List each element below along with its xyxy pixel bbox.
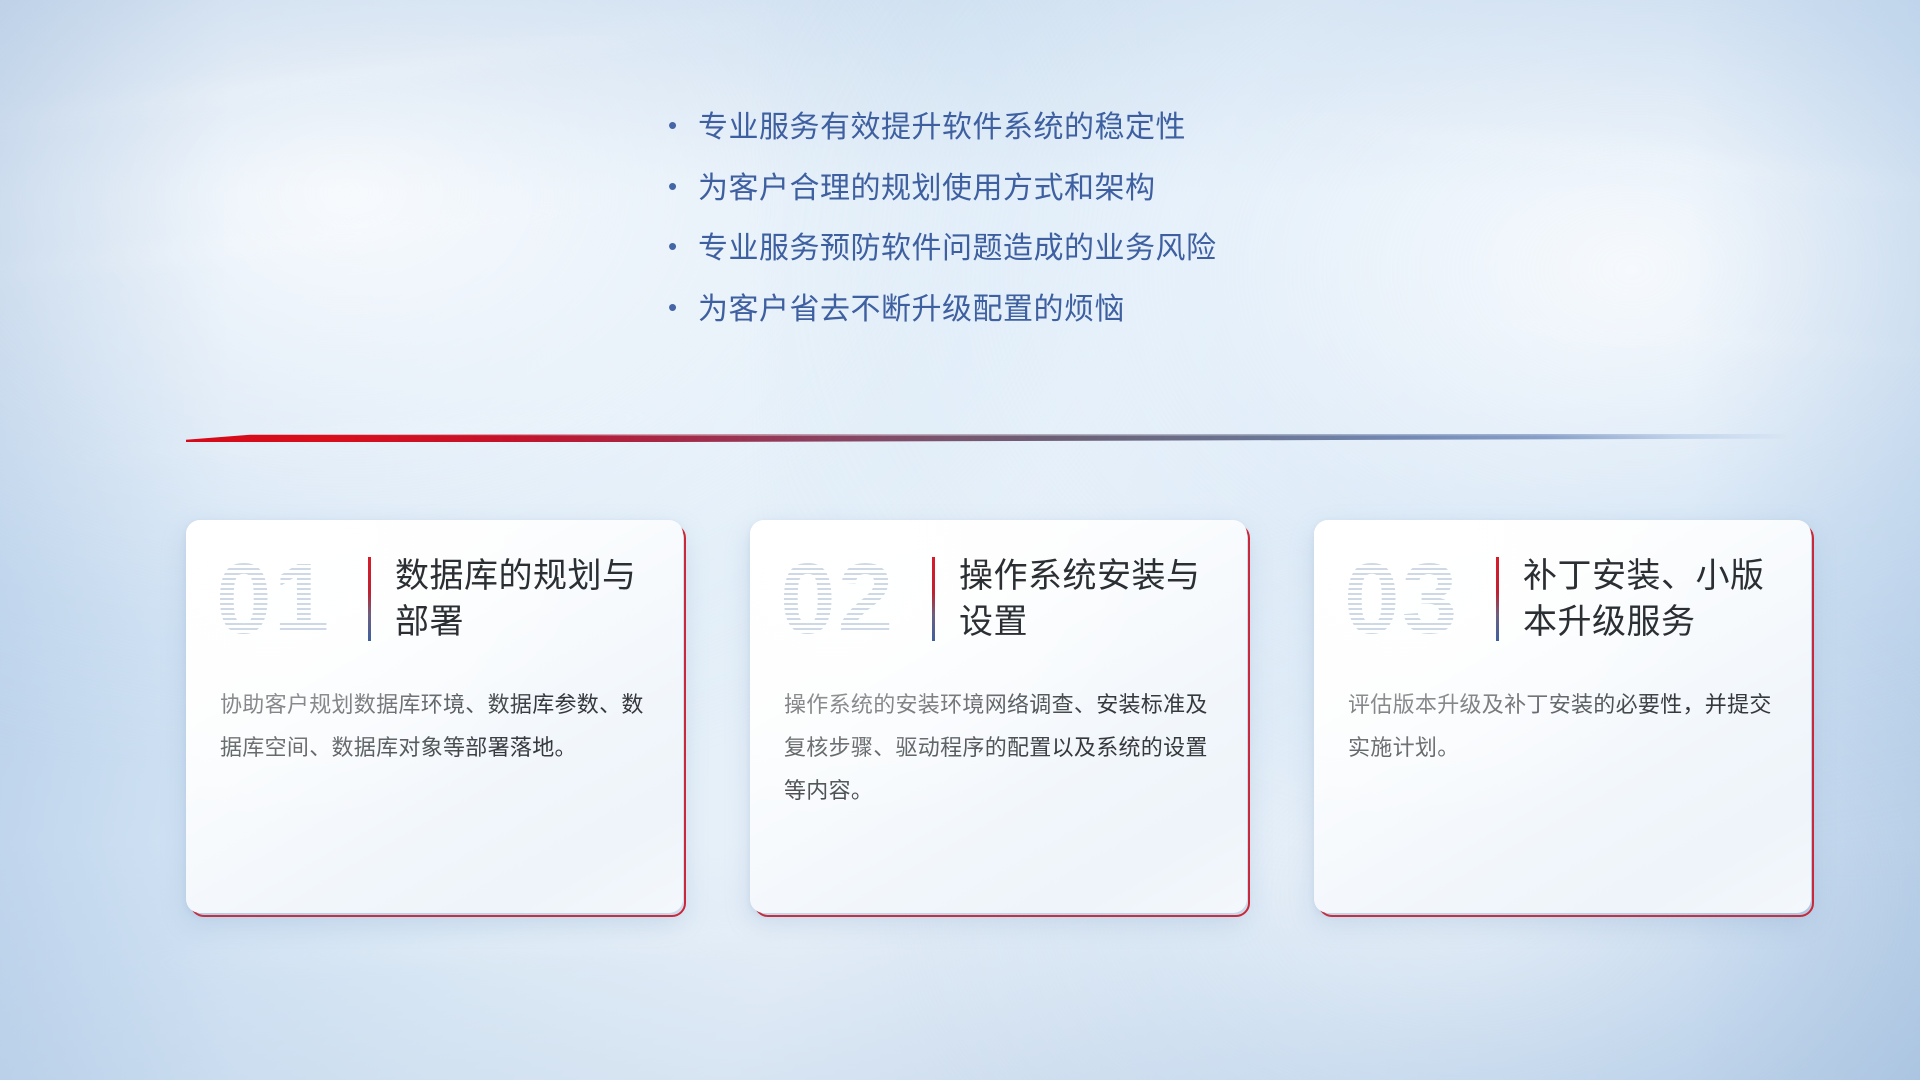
card-header: 02 操作系统安装与设置: [750, 520, 1247, 678]
bullet-text: 专业服务预防软件问题造成的业务风险: [698, 229, 1568, 269]
bullet-dot-icon: •: [668, 290, 698, 325]
card-body-text: 操作系统的安装环境网络调查、安装标准及复核步骤、驱动程序的配置以及系统的设置等内…: [750, 678, 1247, 813]
service-card-03[interactable]: 03 补丁安装、小版本升级服务 评估版本升级及补丁安装的必要性，并提交实施计划。: [1314, 520, 1811, 913]
card-number-watermark: 02: [780, 543, 928, 655]
card-header: 01 数据库的规划与部署: [186, 520, 683, 678]
bullet-dot-icon: •: [668, 169, 698, 204]
card-divider-rule: [1496, 557, 1499, 641]
bullet-dot-icon: •: [668, 229, 698, 264]
card-divider-rule: [368, 557, 371, 641]
bullet-text: 专业服务有效提升软件系统的稳定性: [698, 108, 1568, 148]
card-divider-rule: [932, 557, 935, 641]
card-number-watermark: 01: [216, 543, 364, 655]
card-title: 数据库的规划与部署: [395, 553, 683, 645]
card-surface[interactable]: 02 操作系统安装与设置 操作系统的安装环境网络调查、安装标准及复核步骤、驱动程…: [750, 520, 1247, 913]
card-body-text: 协助客户规划数据库环境、数据库参数、数据库空间、数据库对象等部署落地。: [186, 678, 683, 770]
card-title: 补丁安装、小版本升级服务: [1523, 553, 1811, 645]
service-card-02[interactable]: 02 操作系统安装与设置 操作系统的安装环境网络调查、安装标准及复核步骤、驱动程…: [750, 520, 1247, 913]
bullet-text: 为客户合理的规划使用方式和架构: [698, 169, 1568, 209]
card-surface[interactable]: 01 数据库的规划与部署 协助客户规划数据库环境、数据库参数、数据库空间、数据库…: [186, 520, 683, 913]
card-body-text: 评估版本升级及补丁安装的必要性，并提交实施计划。: [1314, 678, 1811, 770]
bullet-dot-icon: •: [668, 108, 698, 143]
service-card-01[interactable]: 01 数据库的规划与部署 协助客户规划数据库环境、数据库参数、数据库空间、数据库…: [186, 520, 683, 913]
card-number-watermark: 03: [1344, 543, 1492, 655]
list-item: • 专业服务预防软件问题造成的业务风险: [668, 229, 1568, 269]
card-surface[interactable]: 03 补丁安装、小版本升级服务 评估版本升级及补丁安装的必要性，并提交实施计划。: [1314, 520, 1811, 913]
card-header: 03 补丁安装、小版本升级服务: [1314, 520, 1811, 678]
benefits-bullet-list: • 专业服务有效提升软件系统的稳定性 • 为客户合理的规划使用方式和架构 • 专…: [668, 108, 1568, 350]
list-item: • 为客户合理的规划使用方式和架构: [668, 169, 1568, 209]
list-item: • 为客户省去不断升级配置的烦恼: [668, 290, 1568, 330]
service-card-group: 01 数据库的规划与部署 协助客户规划数据库环境、数据库参数、数据库空间、数据库…: [186, 520, 1811, 913]
card-title: 操作系统安装与设置: [959, 553, 1247, 645]
bullet-text: 为客户省去不断升级配置的烦恼: [698, 290, 1568, 330]
list-item: • 专业服务有效提升软件系统的稳定性: [668, 108, 1568, 148]
section-divider: [186, 430, 1786, 446]
